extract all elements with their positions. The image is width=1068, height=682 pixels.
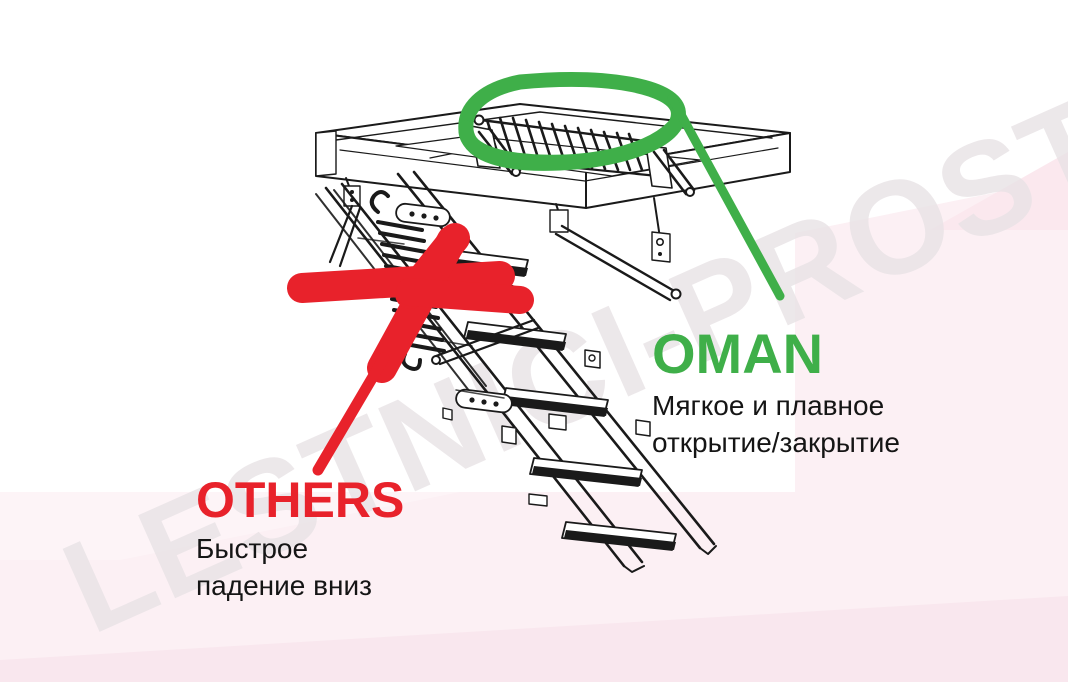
red-tail-stroke	[318, 358, 384, 470]
red-cross-arrow	[302, 238, 520, 470]
others-line-2: падение вниз	[196, 568, 404, 605]
caption-others: OTHERS Быстрое падение вниз	[196, 475, 404, 605]
others-title: OTHERS	[196, 475, 404, 525]
image-canvas: LESTNICI-PROSTO.RU	[0, 0, 1068, 682]
red-arrow-wing-b	[410, 292, 520, 300]
marker-annotations	[0, 0, 1068, 682]
oman-title: OMAN	[652, 326, 900, 382]
oman-line-1: Мягкое и плавное	[652, 388, 900, 425]
green-circle-pointer	[466, 80, 780, 296]
oman-line-2: открытие/закрытие	[652, 425, 900, 462]
caption-oman: OMAN Мягкое и плавное открытие/закрытие	[652, 326, 900, 462]
others-line-1: Быстрое	[196, 531, 404, 568]
green-tail-stroke	[672, 98, 780, 296]
